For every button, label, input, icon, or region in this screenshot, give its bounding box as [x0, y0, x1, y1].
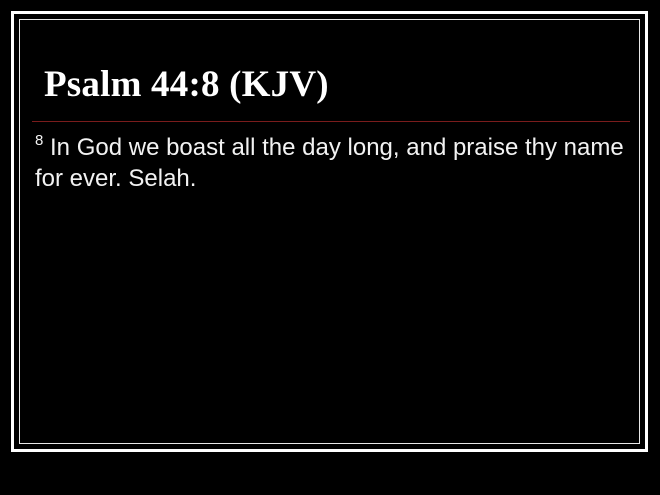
- scripture-body: 8 In God we boast all the day long, and …: [35, 132, 630, 194]
- presentation-slide: Psalm 44:8 (KJV) 8 In God we boast all t…: [0, 0, 660, 495]
- slide-title: Psalm 44:8 (KJV): [44, 66, 329, 103]
- verse-number: 8: [35, 132, 43, 149]
- title-divider-rule: [32, 121, 630, 122]
- slide-content: Psalm 44:8 (KJV) 8 In God we boast all t…: [32, 28, 630, 432]
- scripture-text: In God we boast all the day long, and pr…: [35, 134, 624, 192]
